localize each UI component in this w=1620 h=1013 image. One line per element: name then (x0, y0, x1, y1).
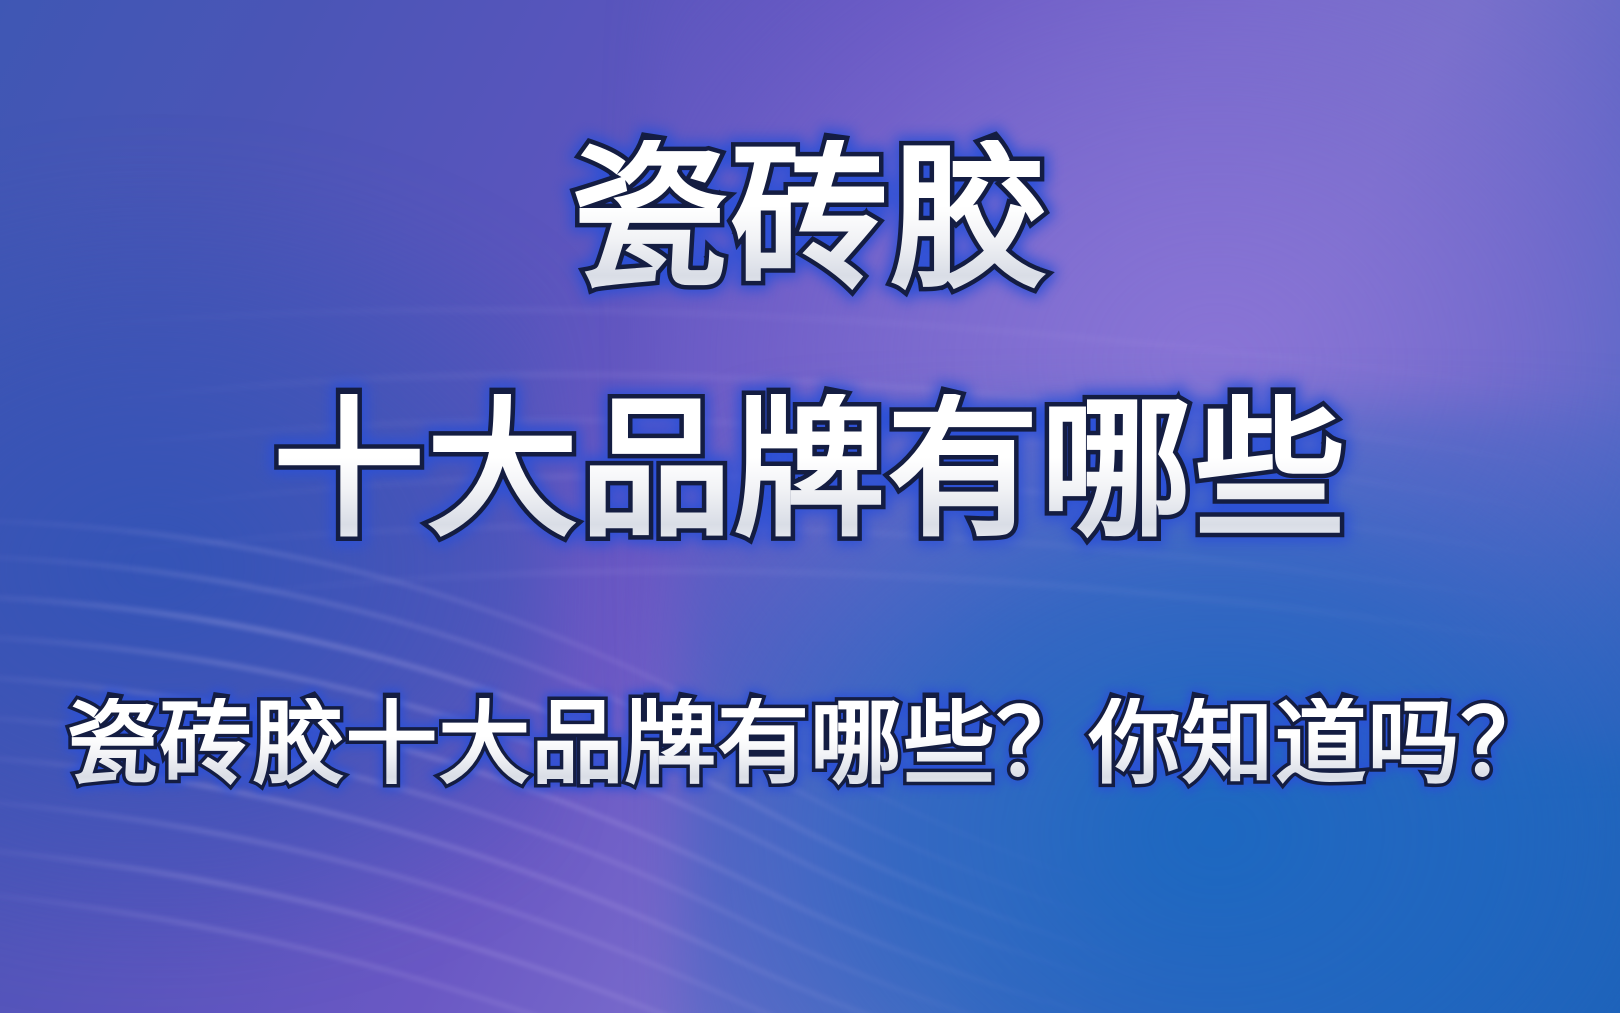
background-swoosh-curves (0, 0, 1620, 1013)
headline-line-2-outline: 十大品牌有哪些 (273, 394, 1348, 546)
headline-line-1-text: 瓷砖胶 (571, 140, 1050, 298)
subtitle-glow: 瓷砖胶十大品牌有哪些？你知道吗？ (67, 698, 1554, 790)
subtitle: 瓷砖胶十大品牌有哪些？你知道吗？ 瓷砖胶十大品牌有哪些？你知道吗？ 瓷砖胶十大品… (67, 698, 1554, 790)
headline-line-2-text: 十大品牌有哪些 (273, 394, 1348, 546)
headline-line-1: 瓷砖胶 瓷砖胶 瓷砖胶 (571, 140, 1050, 298)
headline-line-1-glow: 瓷砖胶 (571, 140, 1050, 298)
background-blue-bloom-bottom-right (680, 405, 1620, 1013)
background-light-streaks (0, 0, 1620, 1013)
subtitle-outline: 瓷砖胶十大品牌有哪些？你知道吗？ (67, 698, 1554, 790)
headline-line-2-glow: 十大品牌有哪些 (273, 394, 1348, 546)
headline-line-2: 十大品牌有哪些 十大品牌有哪些 十大品牌有哪些 (273, 394, 1348, 546)
subtitle-text: 瓷砖胶十大品牌有哪些？你知道吗？ (67, 698, 1554, 790)
poster-canvas: 瓷砖胶 瓷砖胶 瓷砖胶 十大品牌有哪些 十大品牌有哪些 十大品牌有哪些 瓷砖胶十… (0, 0, 1620, 1013)
headline-line-1-outline: 瓷砖胶 (571, 140, 1050, 298)
poster-text-content: 瓷砖胶 瓷砖胶 瓷砖胶 十大品牌有哪些 十大品牌有哪些 十大品牌有哪些 瓷砖胶十… (0, 0, 1620, 1013)
background-purple-bloom (648, 0, 1620, 750)
background-blue-bloom-left (0, 162, 551, 972)
